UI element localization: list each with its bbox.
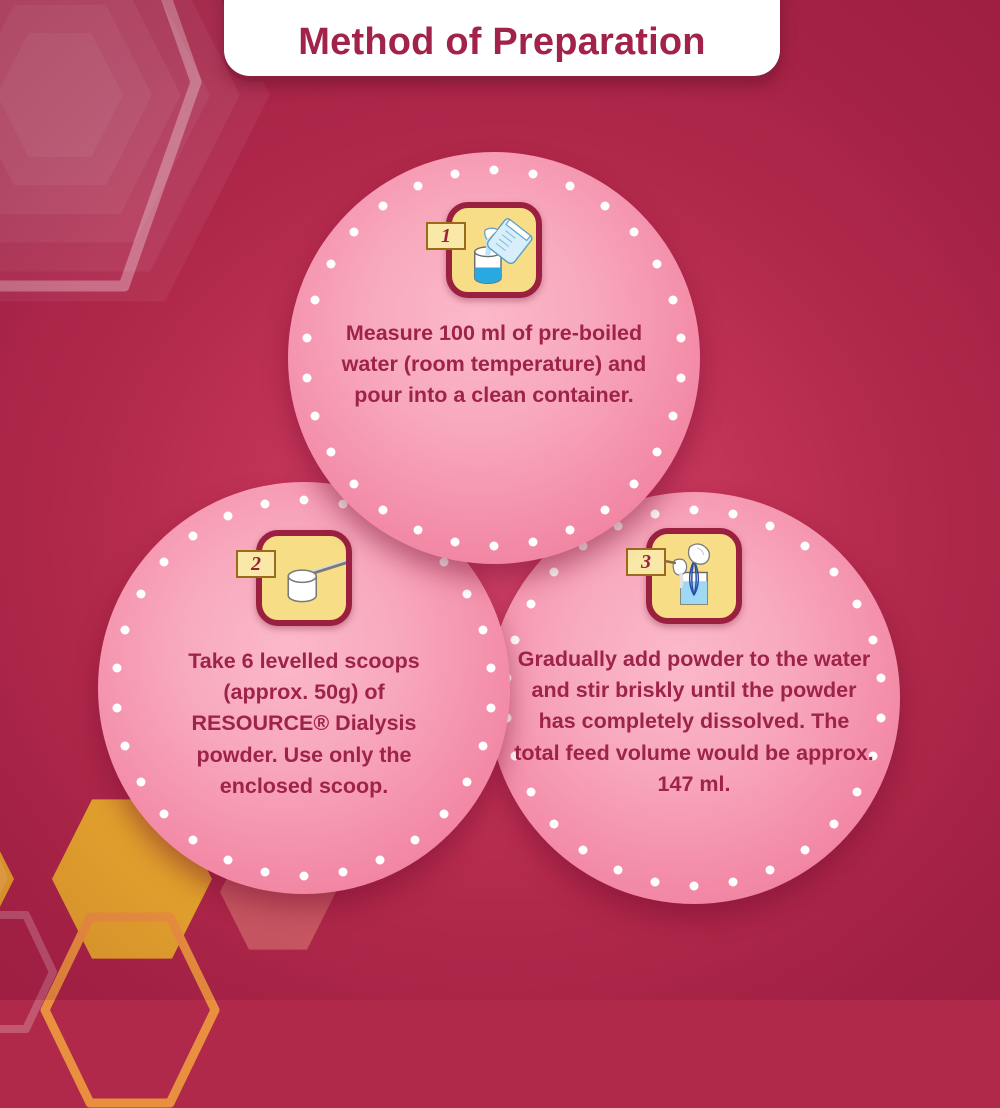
decor-dot [376, 855, 385, 864]
decor-dot [260, 867, 269, 876]
decor-dot [300, 872, 309, 881]
decor-dot [223, 855, 232, 864]
decor-dot [629, 479, 638, 488]
step-card-1: 1 [288, 152, 700, 564]
decor-dot [350, 479, 359, 488]
step-3-text: Gradually add powder to the water and st… [514, 644, 874, 800]
decor-dot [652, 448, 661, 457]
decor-dot [550, 819, 559, 828]
decor-dot [668, 412, 677, 421]
page-title: Method of Preparation [298, 21, 705, 64]
step-1-icon-tile: 1 [446, 202, 542, 298]
decor-dot [311, 412, 320, 421]
decor-dot [579, 846, 588, 855]
decor-dot [189, 836, 198, 845]
decor-dot [490, 542, 499, 551]
page-title-banner: Method of Preparation [224, 0, 780, 76]
decor-dot [613, 865, 622, 874]
decor-dot [379, 506, 388, 515]
step-2-text: Take 6 levelled scoops (approx. 50g) of … [164, 646, 444, 802]
decor-dot [529, 537, 538, 546]
decor-dot [766, 865, 775, 874]
decor-dot [410, 836, 419, 845]
decor-dot [829, 819, 838, 828]
step-number-badge-2: 2 [236, 550, 276, 578]
step-1-text: Measure 100 ml of pre-boiled water (room… [329, 318, 659, 412]
decor-dot [413, 525, 422, 534]
decor-dot [339, 867, 348, 876]
decor-dot [729, 877, 738, 886]
decor-dot [450, 537, 459, 546]
decor-dot [566, 525, 575, 534]
decor-dot [650, 877, 659, 886]
decor-dot [327, 448, 336, 457]
decor-dot [600, 506, 609, 515]
decor-dot [160, 809, 169, 818]
decor-dot [800, 846, 809, 855]
pour-water-into-glass-icon [452, 208, 536, 292]
step-number-badge-1: 1 [426, 222, 466, 250]
decor-dot [690, 882, 699, 891]
decor-dot [439, 809, 448, 818]
